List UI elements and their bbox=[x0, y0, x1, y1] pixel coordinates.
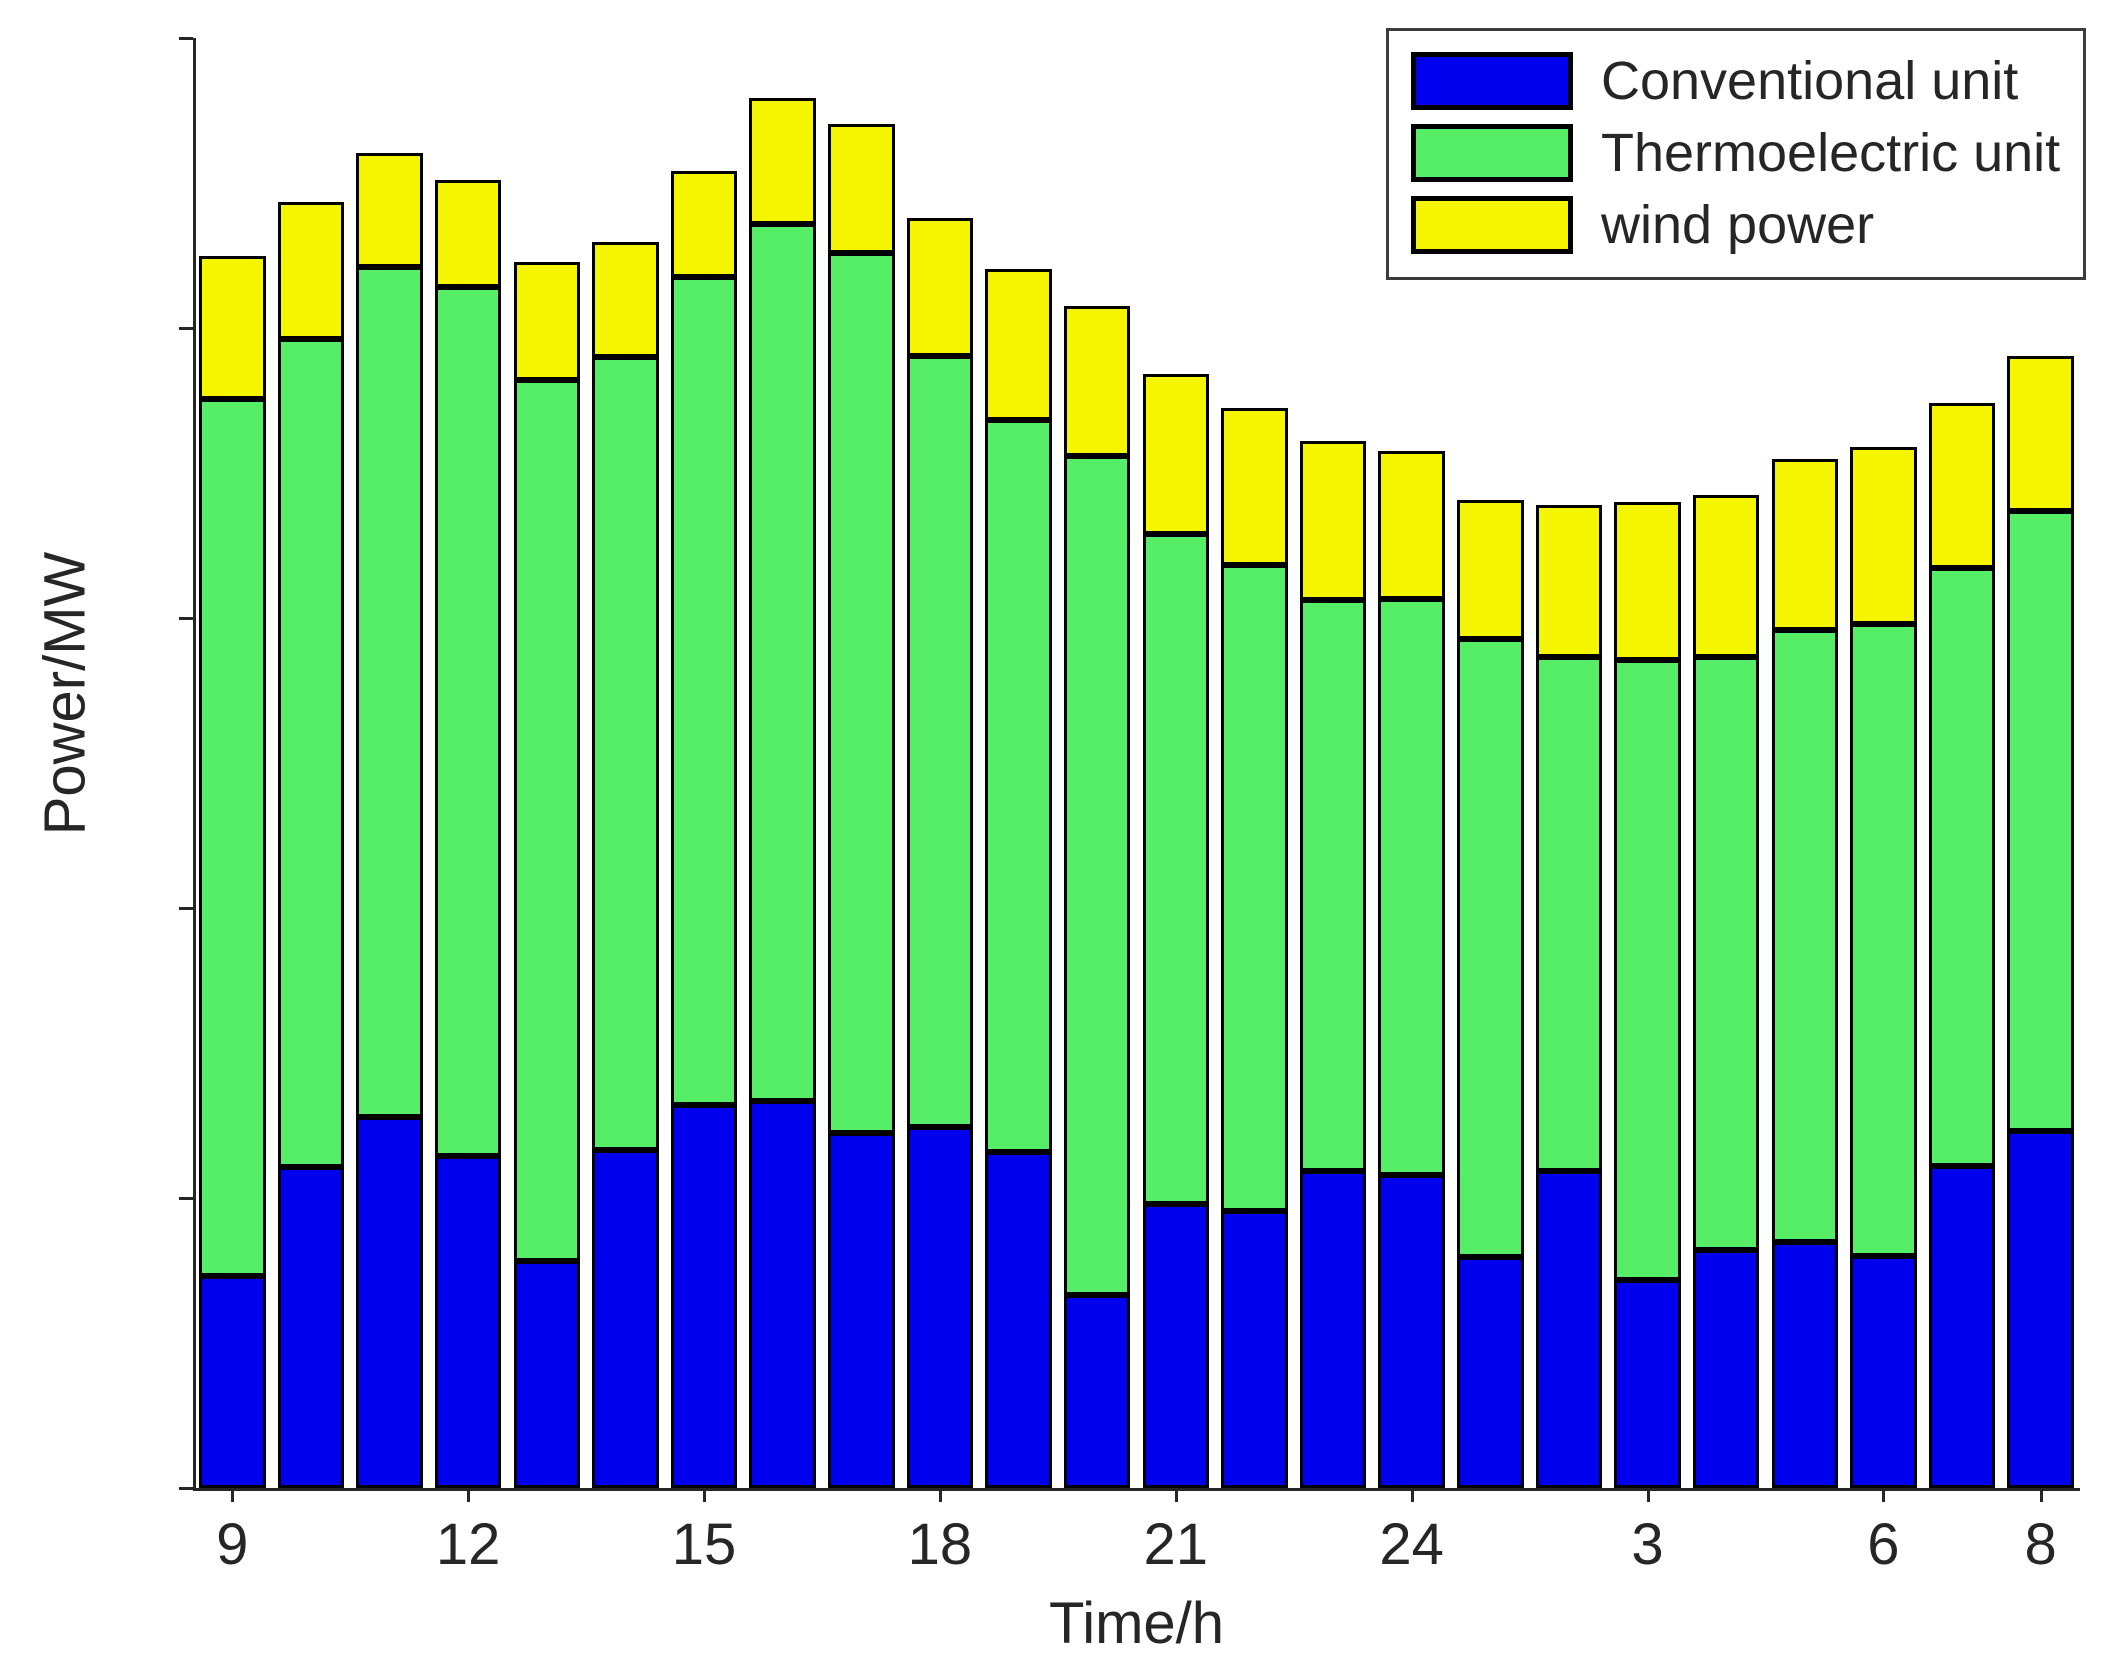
bar-segment bbox=[1536, 657, 1602, 1171]
stacked-bar bbox=[1143, 38, 1209, 1488]
x-tick-mark bbox=[1411, 1488, 1414, 1502]
bar-segment bbox=[1614, 660, 1680, 1281]
bar-segment bbox=[1378, 1175, 1444, 1488]
bar-segment bbox=[514, 1261, 580, 1488]
bar-segment bbox=[671, 1105, 737, 1488]
stacked-bar bbox=[435, 38, 501, 1488]
bar-segment bbox=[1693, 657, 1759, 1250]
stacked-bar bbox=[985, 38, 1051, 1488]
bar-segment bbox=[1693, 1250, 1759, 1488]
legend-swatch bbox=[1411, 196, 1573, 254]
bar-segment bbox=[1614, 502, 1680, 660]
x-tick-label: 18 bbox=[870, 1516, 1010, 1574]
x-tick-label: 21 bbox=[1106, 1516, 1246, 1574]
bar-segment bbox=[278, 202, 344, 339]
bar-segment bbox=[671, 277, 737, 1105]
legend-label: Thermoelectric unit bbox=[1601, 122, 2060, 184]
bar-segment bbox=[1300, 441, 1366, 601]
bar-segment bbox=[671, 171, 737, 277]
x-tick-label: 3 bbox=[1578, 1516, 1718, 1574]
chart-legend: Conventional unitThermoelectric unitwind… bbox=[1386, 28, 2086, 280]
bar-segment bbox=[1929, 403, 1995, 568]
bar-segment bbox=[1614, 1280, 1680, 1488]
chart-figure: Power/MW Time/h 05001000150020002500 912… bbox=[0, 0, 2114, 1677]
bar-segment bbox=[1064, 456, 1130, 1295]
legend-label: wind power bbox=[1601, 194, 1874, 256]
bar-segment bbox=[1772, 459, 1838, 630]
x-tick-mark bbox=[939, 1488, 942, 1502]
bar-segment bbox=[592, 242, 658, 357]
stacked-bar bbox=[1064, 38, 1130, 1488]
bar-segment bbox=[1064, 1295, 1130, 1488]
bar-segment bbox=[907, 218, 973, 356]
x-axis-line bbox=[193, 1488, 2080, 1491]
stacked-bar bbox=[671, 38, 737, 1488]
bar-segment bbox=[1143, 1204, 1209, 1488]
bar-segment bbox=[435, 180, 501, 287]
bar-segment bbox=[1457, 639, 1523, 1257]
stacked-bar bbox=[749, 38, 815, 1488]
x-tick-label: 9 bbox=[162, 1516, 302, 1574]
stacked-bar bbox=[907, 38, 973, 1488]
stacked-bar bbox=[828, 38, 894, 1488]
bar-segment bbox=[199, 256, 265, 399]
bar-segment bbox=[749, 98, 815, 223]
bar-segment bbox=[1850, 447, 1916, 624]
bar-segment bbox=[828, 1133, 894, 1488]
bar-segment bbox=[199, 399, 265, 1276]
x-tick-mark bbox=[1882, 1488, 1885, 1502]
bar-segment bbox=[985, 1152, 1051, 1488]
x-tick-mark bbox=[703, 1488, 706, 1502]
bar-segment bbox=[1457, 1257, 1523, 1488]
bar-segment bbox=[435, 287, 501, 1156]
x-tick-mark bbox=[1175, 1488, 1178, 1502]
x-tick-mark bbox=[1647, 1488, 1650, 1502]
legend-item[interactable]: Thermoelectric unit bbox=[1411, 117, 2065, 189]
x-tick-mark bbox=[467, 1488, 470, 1502]
bar-segment bbox=[907, 356, 973, 1127]
bar-segment bbox=[1772, 1242, 1838, 1489]
y-tick-mark bbox=[179, 907, 193, 910]
bar-segment bbox=[1772, 630, 1838, 1242]
x-tick-label: 8 bbox=[1971, 1516, 2111, 1574]
y-tick-mark bbox=[179, 1487, 193, 1490]
bar-segment bbox=[1143, 374, 1209, 534]
x-tick-label: 24 bbox=[1342, 1516, 1482, 1574]
stacked-bar bbox=[199, 38, 265, 1488]
bar-segment bbox=[1378, 599, 1444, 1175]
stacked-bar bbox=[592, 38, 658, 1488]
stacked-bar bbox=[1300, 38, 1366, 1488]
bar-segment bbox=[435, 1156, 501, 1488]
legend-swatch bbox=[1411, 124, 1573, 182]
stacked-bar bbox=[278, 38, 344, 1488]
bar-segment bbox=[1143, 534, 1209, 1204]
bar-segment bbox=[2007, 511, 2073, 1130]
bar-segment bbox=[1064, 306, 1130, 456]
stacked-bar bbox=[356, 38, 422, 1488]
legend-swatch bbox=[1411, 52, 1573, 110]
bar-segment bbox=[985, 420, 1051, 1152]
bar-segment bbox=[592, 1150, 658, 1488]
bar-segment bbox=[1457, 500, 1523, 639]
y-axis-title: Power/MW bbox=[32, 414, 99, 974]
bar-segment bbox=[1929, 1166, 1995, 1488]
x-tick-mark bbox=[231, 1488, 234, 1502]
y-tick-mark bbox=[179, 1197, 193, 1200]
bar-segment bbox=[828, 253, 894, 1133]
bar-segment bbox=[1929, 568, 1995, 1165]
bar-segment bbox=[356, 267, 422, 1117]
y-tick-mark bbox=[179, 37, 193, 40]
y-axis-line bbox=[193, 38, 196, 1488]
bar-segment bbox=[1378, 451, 1444, 599]
bar-segment bbox=[985, 269, 1051, 420]
bar-segment bbox=[278, 339, 344, 1167]
bar-segment bbox=[278, 1167, 344, 1488]
legend-label: Conventional unit bbox=[1601, 50, 2018, 112]
bar-segment bbox=[749, 1101, 815, 1488]
bar-segment bbox=[1300, 1171, 1366, 1488]
bar-segment bbox=[1221, 565, 1287, 1212]
x-tick-label: 12 bbox=[398, 1516, 538, 1574]
x-tick-label: 15 bbox=[634, 1516, 774, 1574]
stacked-bar bbox=[1221, 38, 1287, 1488]
x-axis-title: Time/h bbox=[193, 1590, 2080, 1657]
legend-item[interactable]: Conventional unit bbox=[1411, 45, 2065, 117]
bar-segment bbox=[1221, 1211, 1287, 1488]
stacked-bar bbox=[514, 38, 580, 1488]
bar-segment bbox=[2007, 356, 2073, 511]
bar-segment bbox=[2007, 1131, 2073, 1488]
bar-segment bbox=[1300, 600, 1366, 1171]
bar-segment bbox=[1536, 505, 1602, 658]
y-tick-mark bbox=[179, 327, 193, 330]
x-tick-mark bbox=[2040, 1488, 2043, 1502]
bar-segment bbox=[1221, 408, 1287, 565]
bar-segment bbox=[356, 153, 422, 267]
bar-segment bbox=[907, 1127, 973, 1488]
bar-segment bbox=[828, 124, 894, 253]
bar-segment bbox=[1850, 1256, 1916, 1488]
bar-segment bbox=[1693, 495, 1759, 657]
bar-segment bbox=[514, 262, 580, 380]
bar-segment bbox=[199, 1276, 265, 1488]
bar-segment bbox=[749, 224, 815, 1101]
bar-segment bbox=[356, 1117, 422, 1488]
x-tick-label: 6 bbox=[1813, 1516, 1953, 1574]
legend-item[interactable]: wind power bbox=[1411, 189, 2065, 261]
bar-segment bbox=[1536, 1171, 1602, 1488]
y-tick-mark bbox=[179, 617, 193, 620]
bar-segment bbox=[592, 357, 658, 1150]
bar-segment bbox=[514, 380, 580, 1260]
bar-segment bbox=[1850, 624, 1916, 1256]
